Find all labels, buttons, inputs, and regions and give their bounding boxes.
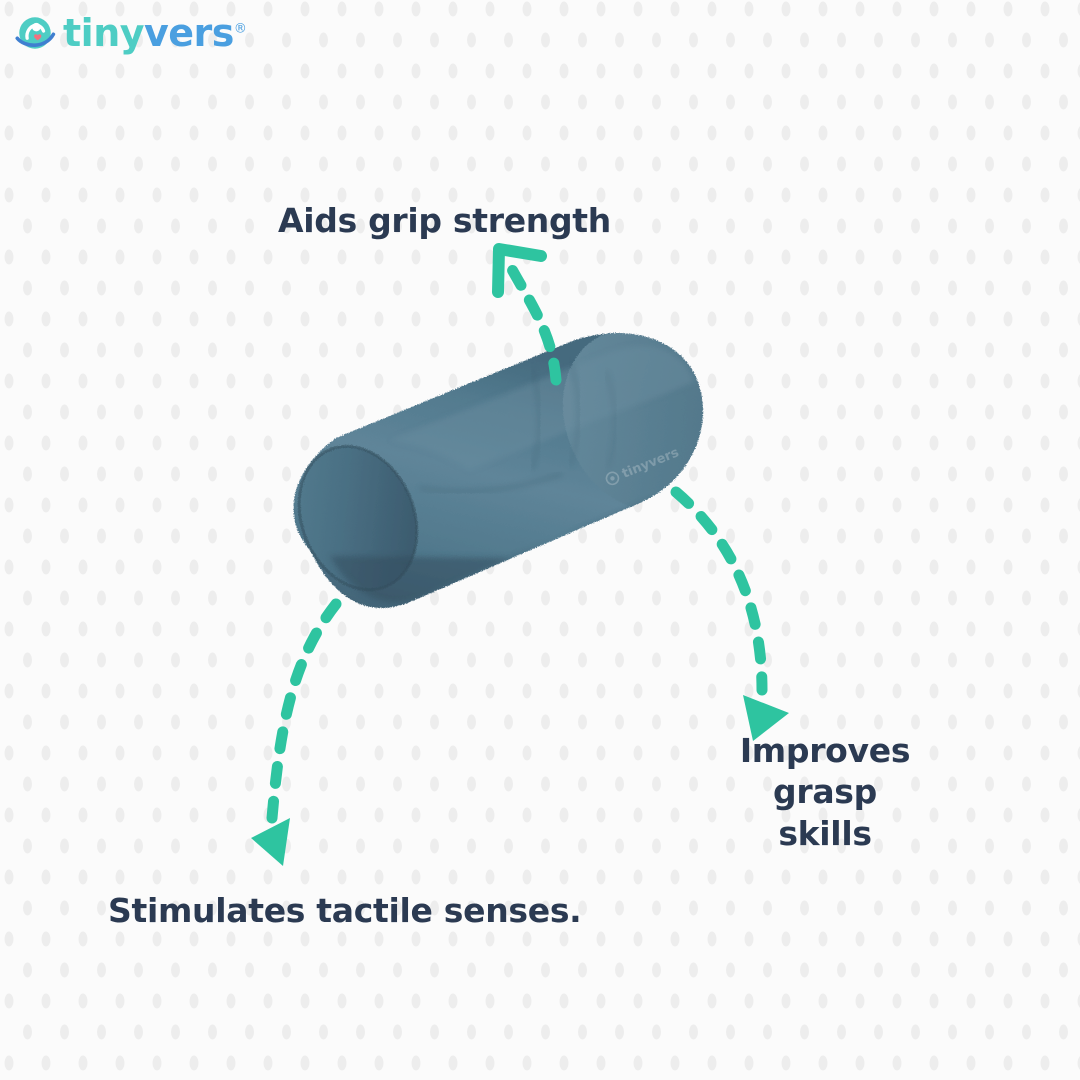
annotation-label-grip-strength: Aids grip strength	[278, 200, 611, 241]
tinyvers-logo-icon	[14, 12, 56, 54]
annotation-label-grasp-skills: Improves grasp skills	[700, 730, 950, 854]
brand-wordmark: tinyvers®	[63, 14, 246, 52]
brand-wordmark-tiny: tiny	[63, 11, 144, 55]
registered-trademark-icon: ®	[234, 21, 247, 36]
annotation-label-tactile-senses: Stimulates tactile senses.	[108, 890, 581, 931]
product-plush-roll-image: tinyvers	[270, 320, 730, 640]
brand-wordmark-vers: vers	[144, 11, 234, 55]
brand-logo[interactable]: tinyvers®	[14, 12, 246, 54]
